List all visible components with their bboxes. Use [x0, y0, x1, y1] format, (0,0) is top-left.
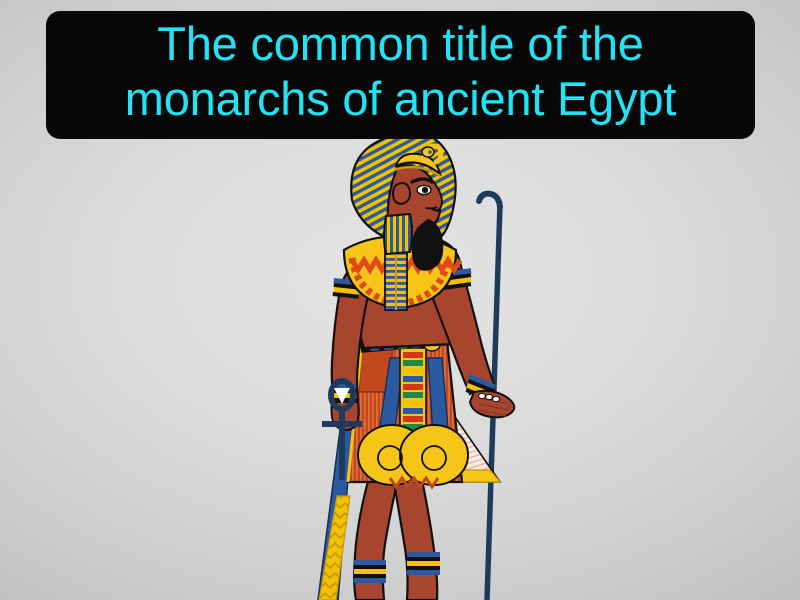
torso	[353, 240, 464, 348]
beaded-belt-icon	[360, 325, 450, 352]
ankh-symbol-icon	[322, 381, 362, 480]
shendyt-kilt	[348, 340, 468, 487]
left-arm	[331, 262, 368, 430]
crook-staff-icon	[479, 194, 500, 600]
cobra-head-ornaments-icon	[358, 425, 468, 487]
central-apron	[400, 348, 426, 458]
definition-title-banner: The common title of the monarchs of anci…	[46, 11, 755, 139]
head	[351, 133, 455, 270]
broad-collar-icon	[344, 236, 460, 310]
page-title: The common title of the monarchs of anci…	[125, 17, 676, 126]
right-arm	[432, 258, 514, 417]
pleated-skirt-panels	[352, 352, 500, 482]
uraeus-cobra-icon	[422, 146, 441, 162]
ankle-bands-icon	[354, 552, 440, 583]
legs	[354, 470, 440, 600]
definition-card: The common title of the monarchs of anci…	[0, 0, 800, 600]
bull-tail-icon	[318, 430, 352, 600]
